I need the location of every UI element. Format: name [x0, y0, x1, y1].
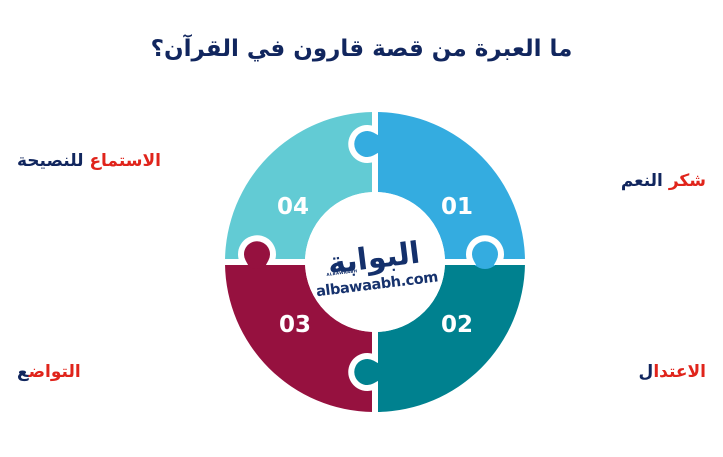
piece-label-03-word1: التواض	[29, 362, 81, 382]
infographic-stage: 04 01 03 02	[0, 0, 723, 457]
piece-label-04-word2: للنصيحة	[17, 151, 84, 171]
piece-number-04: 04	[277, 194, 309, 220]
piece-label-03-word2: ع	[17, 362, 29, 382]
piece-label-04: الاستماع للنصيحة	[17, 151, 237, 172]
piece-label-02-word2: ل	[639, 362, 654, 382]
puzzle-ring-diagram: 04 01 03 02	[217, 104, 533, 420]
piece-number-02: 02	[441, 312, 473, 338]
piece-number-03: 03	[279, 312, 311, 338]
piece-label-02-word1: الاعتدا	[653, 362, 706, 382]
piece-label-02: الاعتدال	[639, 362, 706, 383]
piece-label-01: شكر النعم	[621, 171, 706, 192]
piece-label-01-word2: النعم	[621, 171, 663, 191]
piece-label-01-word1: شكر	[669, 171, 706, 191]
puzzle-center-hub	[305, 192, 445, 332]
piece-label-03: التواضع	[17, 362, 217, 383]
piece-number-01: 01	[441, 194, 473, 220]
piece-label-04-word1: الاستماع	[89, 151, 161, 171]
